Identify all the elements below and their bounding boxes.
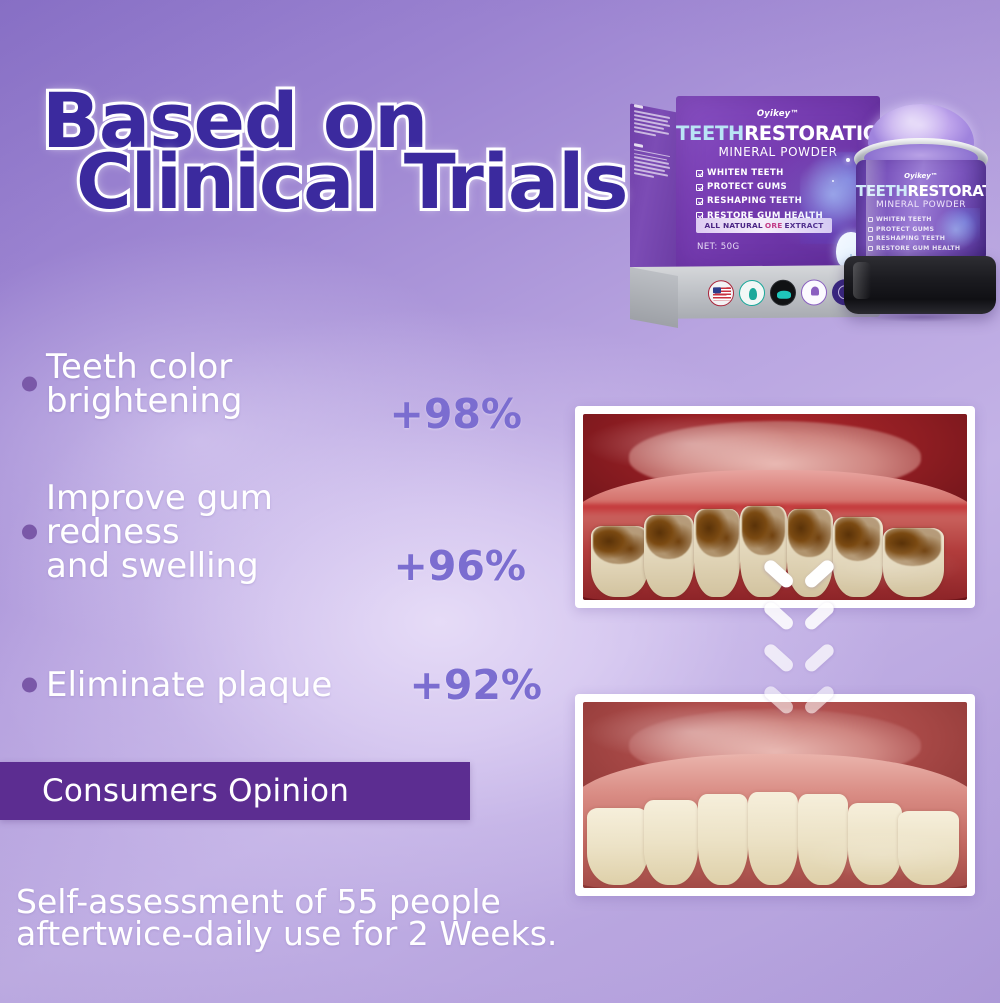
tooth: [587, 808, 648, 885]
natural-extract-badge: ALL NATURAL ORE EXTRACT: [696, 218, 832, 233]
product-feature-item: PROTECT GUMS: [696, 182, 823, 192]
tartar-stain: [696, 509, 738, 557]
after-treatment-photo: [575, 694, 975, 896]
jar-feature-item: PROTECT GUMS: [868, 226, 960, 233]
benefit-label: Improve gum redness and swelling: [46, 481, 394, 583]
tooth: [591, 526, 649, 598]
quality-guaranteed-badge-icon: [739, 280, 765, 306]
sparkle-icon: [832, 180, 834, 182]
bullet-dot-icon: [22, 377, 37, 392]
dental-association-badge-icon: [770, 280, 796, 306]
checkbox-icon: [868, 246, 873, 251]
product-feature-list: WHITEN TEETH PROTECT GUMS RESHAPING TEET…: [696, 168, 823, 225]
headline: Based on Clinical Trials: [34, 86, 674, 217]
benefit-value: +98%: [390, 390, 523, 438]
downward-chevron-arrows: [744, 556, 856, 720]
tartar-stain: [788, 509, 830, 557]
jar-feature-item: WHITEN TEETH: [868, 216, 960, 223]
us-flag-badge-icon: [708, 280, 734, 306]
consumers-opinion-banner: Consumers Opinion: [0, 762, 470, 820]
checkbox-icon: [868, 236, 873, 241]
product-feature-item: RESHAPING TEETH: [696, 196, 823, 206]
checkbox-icon: [868, 227, 873, 232]
benefit-item: Teeth color brightening +98%: [14, 336, 570, 432]
product-feature-item: WHITEN TEETH: [696, 168, 823, 178]
tooth: [898, 811, 959, 885]
jar-feature-item: RESTORE GUM HEALTH: [868, 245, 960, 252]
chevron-down-icon: [766, 640, 832, 674]
jar-title-part2: RESTORATION: [908, 182, 986, 200]
benefit-value: +96%: [394, 542, 527, 590]
tooth: [848, 803, 902, 886]
net-weight-label: NET: 50G: [697, 242, 740, 252]
tartar-stain: [885, 528, 942, 565]
product-feature-label: RESTORE GUM HEALTH: [707, 211, 823, 221]
tooth: [644, 800, 698, 885]
claim-prefix: ALL NATURAL: [704, 221, 762, 230]
footnote: Self-assessment of 55 people aftertwice-…: [16, 886, 676, 950]
tartar-stain: [593, 526, 646, 565]
headline-line-2: Clinical Trials: [76, 147, 674, 218]
footnote-line-2: aftertwice-daily use for 2 Weeks.: [16, 918, 676, 950]
jar-drop-shadow: [850, 310, 992, 324]
product-jar: Oyikey™ TEETHRESTORATION MINERAL POWDER …: [844, 104, 996, 332]
tartar-stain: [742, 506, 784, 555]
product-box-base-side: [630, 267, 678, 328]
claim-suffix: EXTRACT: [784, 221, 823, 230]
jar-feature-item: RESHAPING TEETH: [868, 235, 960, 242]
checkbox-icon: [696, 170, 703, 177]
product-feature-label: RESHAPING TEETH: [707, 196, 802, 206]
checkbox-icon: [696, 184, 703, 191]
tartar-stain: [646, 515, 692, 560]
benefits-list: Teeth color brightening +98% Improve gum…: [14, 336, 570, 720]
product-feature-item: RESTORE GUM HEALTH: [696, 211, 823, 221]
tooth: [694, 509, 740, 597]
benefit-item: Improve gum redness and swelling +96%: [14, 476, 570, 588]
claim-highlight: ORE: [765, 221, 783, 230]
consumers-opinion-label: Consumers Opinion: [42, 773, 349, 809]
bullet-dot-icon: [22, 678, 37, 693]
jar-feature-label: RESTORE GUM HEALTH: [876, 245, 960, 252]
product-title-part1: TEETH: [676, 122, 744, 145]
tooth: [698, 794, 748, 885]
jar-brand-name: Oyikey™: [856, 172, 986, 180]
product-feature-label: WHITEN TEETH: [707, 168, 784, 178]
tooth: [883, 528, 944, 597]
jar-feature-label: RESHAPING TEETH: [876, 235, 945, 242]
benefit-value: +92%: [410, 661, 543, 709]
jar-label: Oyikey™ TEETHRESTORATION MINERAL POWDER …: [856, 160, 986, 264]
checkbox-icon: [696, 198, 703, 205]
lab-tested-badge-icon: [801, 279, 827, 305]
tartar-stain: [835, 517, 881, 560]
tooth: [748, 792, 798, 886]
jar-title-part1: TEETH: [856, 182, 908, 200]
tooth: [644, 515, 694, 598]
jar-lid: [844, 256, 996, 314]
benefit-label: Teeth color brightening: [46, 350, 390, 418]
certification-badges: [708, 279, 858, 306]
chevron-down-icon: [766, 556, 832, 590]
jar-feature-label: WHITEN TEETH: [876, 216, 932, 223]
jar-title: TEETHRESTORATION: [856, 182, 986, 200]
chevron-down-icon: [766, 682, 832, 716]
jar-feature-list: WHITEN TEETH PROTECT GUMS RESHAPING TEET…: [868, 216, 960, 254]
benefit-item: Eliminate plaque +92%: [14, 650, 570, 720]
benefit-label: Eliminate plaque: [46, 668, 332, 702]
chevron-down-icon: [766, 598, 832, 632]
after-photo-content: [583, 702, 967, 888]
product-feature-label: PROTECT GUMS: [707, 182, 787, 192]
product-box-base: [630, 265, 880, 319]
teeth-row-after: [583, 750, 967, 888]
checkbox-icon: [868, 217, 873, 222]
jar-feature-label: PROTECT GUMS: [876, 226, 934, 233]
tooth: [798, 794, 848, 885]
bullet-dot-icon: [22, 525, 37, 540]
checkbox-icon: [696, 212, 703, 219]
